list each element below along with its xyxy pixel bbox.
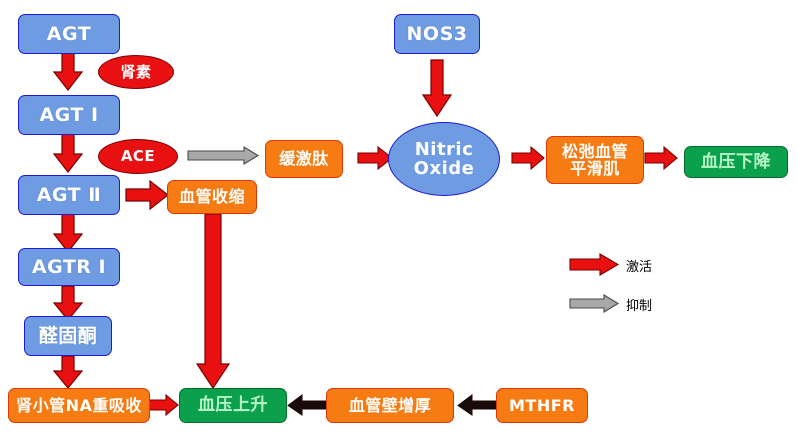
node-tubular-na-reabsorption-label: 肾小管NA重吸收 — [16, 397, 142, 414]
legend-label-activation: 激活 — [626, 256, 652, 275]
arrow-agt-to-agt1 — [52, 52, 84, 92]
node-bp-increase-label: 血压上升 — [198, 396, 268, 414]
node-agt[interactable]: AGT — [18, 14, 120, 54]
node-vasoconstriction-label: 血管收缩 — [179, 188, 245, 205]
node-aldosterone-label: 醛固酮 — [39, 326, 98, 347]
arrow-nitric-oxide-to-relax-muscle — [512, 146, 546, 172]
node-mthfr[interactable]: MTHFR — [496, 388, 588, 423]
node-vasoconstriction[interactable]: 血管收缩 — [167, 180, 257, 214]
node-ace-label: ACE — [121, 148, 155, 164]
node-tubular-na-reabsorption[interactable]: 肾小管NA重吸收 — [8, 388, 150, 423]
legend-label-inhibition: 抑制 — [626, 295, 652, 314]
node-agt-label: AGT — [47, 24, 91, 45]
arrow-aldosterone-to-tubular-na — [52, 356, 84, 390]
node-ace[interactable]: ACE — [98, 139, 178, 174]
arrow-vasoconstriction-to-bp-increase — [196, 214, 230, 390]
node-relax-smooth-muscle[interactable]: 松弛血管 平滑肌 — [546, 136, 644, 184]
arrow-ace-inhibits-bradykinin — [188, 146, 260, 166]
node-agt2[interactable]: AGT Ⅱ — [18, 175, 120, 215]
node-agt2-label: AGT Ⅱ — [37, 185, 102, 206]
node-agtr1[interactable]: AGTR Ⅰ — [18, 248, 120, 286]
node-mthfr-label: MTHFR — [509, 397, 575, 414]
arrow-relax-muscle-to-bp-decrease — [645, 146, 679, 172]
node-agt1-label: AGT Ⅰ — [39, 105, 98, 126]
node-nos3-label: NOS3 — [407, 24, 468, 45]
arrow-agt2-to-vasoconstriction — [126, 180, 170, 212]
arrow-mthfr-to-vessel-thickening — [458, 394, 498, 418]
node-vessel-wall-thickening-label: 血管壁增厚 — [349, 397, 432, 414]
node-bp-decrease[interactable]: 血压下降 — [684, 146, 788, 178]
node-nitric-oxide[interactable]: Nitric Oxide — [388, 122, 500, 196]
arrow-nos3-to-nitric-oxide — [421, 60, 453, 118]
node-renin[interactable]: 肾素 — [98, 55, 174, 89]
node-bp-increase[interactable]: 血压上升 — [179, 388, 287, 423]
pathway-diagram: AGT 肾素 AGT Ⅰ ACE AGT Ⅱ 血管收缩 AGTR Ⅰ 醛固酮 肾… — [0, 0, 797, 438]
node-aldosterone[interactable]: 醛固酮 — [24, 316, 112, 356]
node-bp-decrease-label: 血压下降 — [701, 153, 771, 171]
node-agtr1-label: AGTR Ⅰ — [32, 257, 106, 278]
node-relax-smooth-muscle-label: 松弛血管 平滑肌 — [562, 143, 628, 178]
node-vessel-wall-thickening[interactable]: 血管壁增厚 — [326, 388, 454, 423]
node-nitric-oxide-label: Nitric Oxide — [414, 140, 475, 179]
node-agt1[interactable]: AGT Ⅰ — [18, 95, 120, 135]
legend-gray-arrow-icon — [570, 295, 620, 315]
arrow-vessel-thickening-to-bp-increase — [288, 394, 328, 418]
arrow-agt1-to-agt2 — [52, 134, 84, 174]
node-renin-label: 肾素 — [120, 64, 151, 80]
node-nos3[interactable]: NOS3 — [394, 14, 480, 54]
node-bradykinin[interactable]: 缓激肽 — [265, 140, 343, 178]
arrow-tubular-na-to-bp-increase — [148, 394, 180, 418]
node-bradykinin-label: 缓激肽 — [279, 150, 329, 167]
legend-red-arrow-icon — [570, 253, 620, 277]
